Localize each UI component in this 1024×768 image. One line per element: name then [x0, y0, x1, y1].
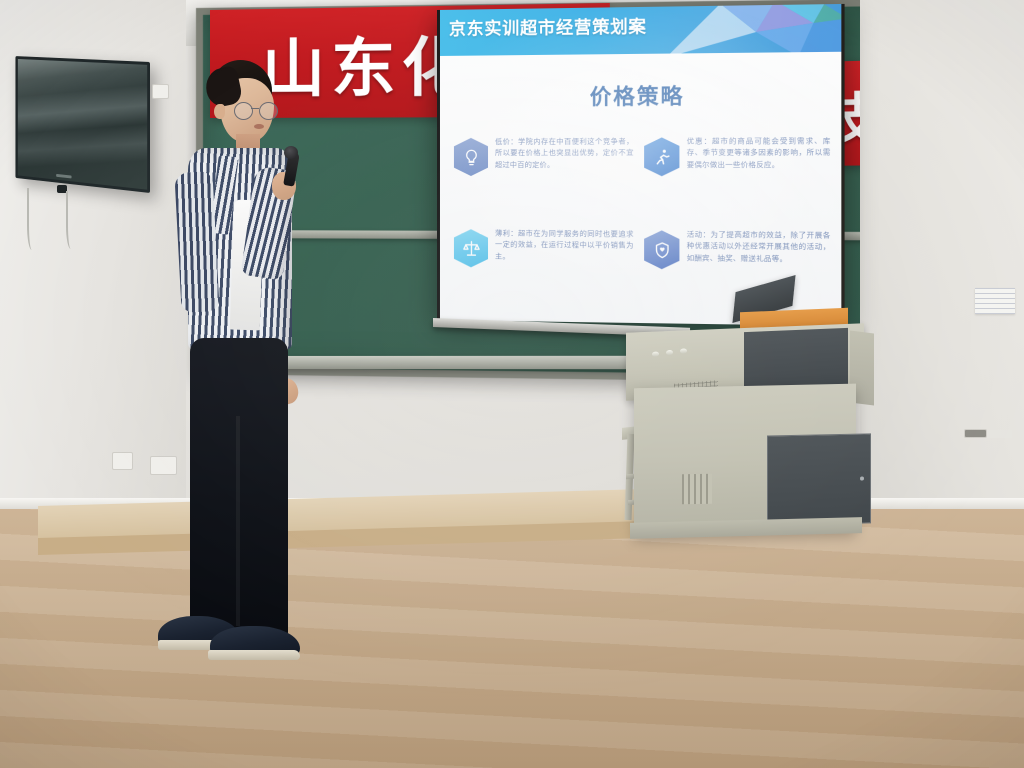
glasses-lens-left [234, 102, 253, 120]
slide-block-text: 薄利：超市在为同学服务的同时也要追求一定的效益，在运行过程中以平价销售为主。 [495, 227, 634, 263]
podium-cabinet-door[interactable] [767, 433, 871, 525]
classroom-presentation-scene: 山东化工 技能大赛 京东实训超市经营策划案 价格策略 [0, 0, 1024, 768]
presenter-ear [214, 104, 225, 119]
tv-cable-right [66, 191, 78, 249]
presenter-arm-far [174, 171, 219, 313]
podium-indicator-led [652, 351, 659, 356]
slide-heading: 价格策略 [440, 79, 841, 112]
slide-block-text: 优惠：超市的商品可能会受到需求、库存、季节变更等诸多因素的影响，所以需要偶尔做出… [687, 135, 831, 171]
running-person-icon [644, 137, 679, 176]
slide-block: 低价：学院内存在中百便利这个竞争者，所以要在价格上也突显出优势，定价不宜超过中百… [454, 135, 634, 222]
lightbulb-icon [454, 138, 488, 176]
presenter [150, 60, 330, 685]
podium-door-lock[interactable] [860, 477, 864, 481]
slide-block-text: 低价：学院内存在中百便利这个竞争者，所以要在价格上也突显出优势，定价不宜超过中百… [495, 135, 634, 170]
wall-notice-paper-1 [975, 288, 1015, 314]
presenter-mouth [254, 124, 264, 129]
glasses-icon [234, 102, 276, 118]
presenter-pants-seam [236, 416, 240, 626]
balance-scale-icon [454, 229, 488, 267]
tv-cable-left [27, 188, 39, 250]
podium-control-panel[interactable] [744, 328, 848, 390]
tv-screen-reflection [18, 59, 147, 190]
presenter-shoe-sole-front [208, 650, 300, 660]
wall-tv [15, 56, 150, 193]
right-wall [860, 0, 1024, 530]
podium-vent [682, 474, 712, 505]
shield-heart-icon [644, 230, 679, 269]
multimedia-podium[interactable] [612, 288, 880, 538]
glasses-lens-right [259, 102, 278, 120]
slide-block-text: 活动：为了提高超市的效益，除了开展各种优惠活动以外还经常开展其他的活动，如酬宾、… [687, 228, 831, 265]
presentation-slide: 京东实训超市经营策划案 价格策略 低价：学院内存在中百便利这个竞争者，所以要在价… [440, 4, 841, 326]
slide-header-title: 京东实训超市经营策划案 [449, 12, 647, 40]
podium-cabinet-body [634, 384, 856, 535]
power-outlet-lower-left [112, 452, 133, 470]
slide-block: 薄利：超市在为同学服务的同时也要追求一定的效益，在运行过程中以平价销售为主。 [454, 227, 634, 315]
low-poly-decoration [666, 4, 841, 56]
slide-header-bar: 京东实训超市经营策划案 [440, 4, 841, 56]
podium-indicator-led [680, 348, 687, 353]
glasses-bridge [251, 108, 259, 109]
wall-fixture-right [964, 429, 987, 438]
microphone-head [284, 146, 298, 159]
slide-block: 优惠：超市的商品可能会受到需求、库存、季节变更等诸多因素的影响，所以需要偶尔做出… [644, 135, 831, 223]
podium-indicator-led [666, 350, 673, 355]
